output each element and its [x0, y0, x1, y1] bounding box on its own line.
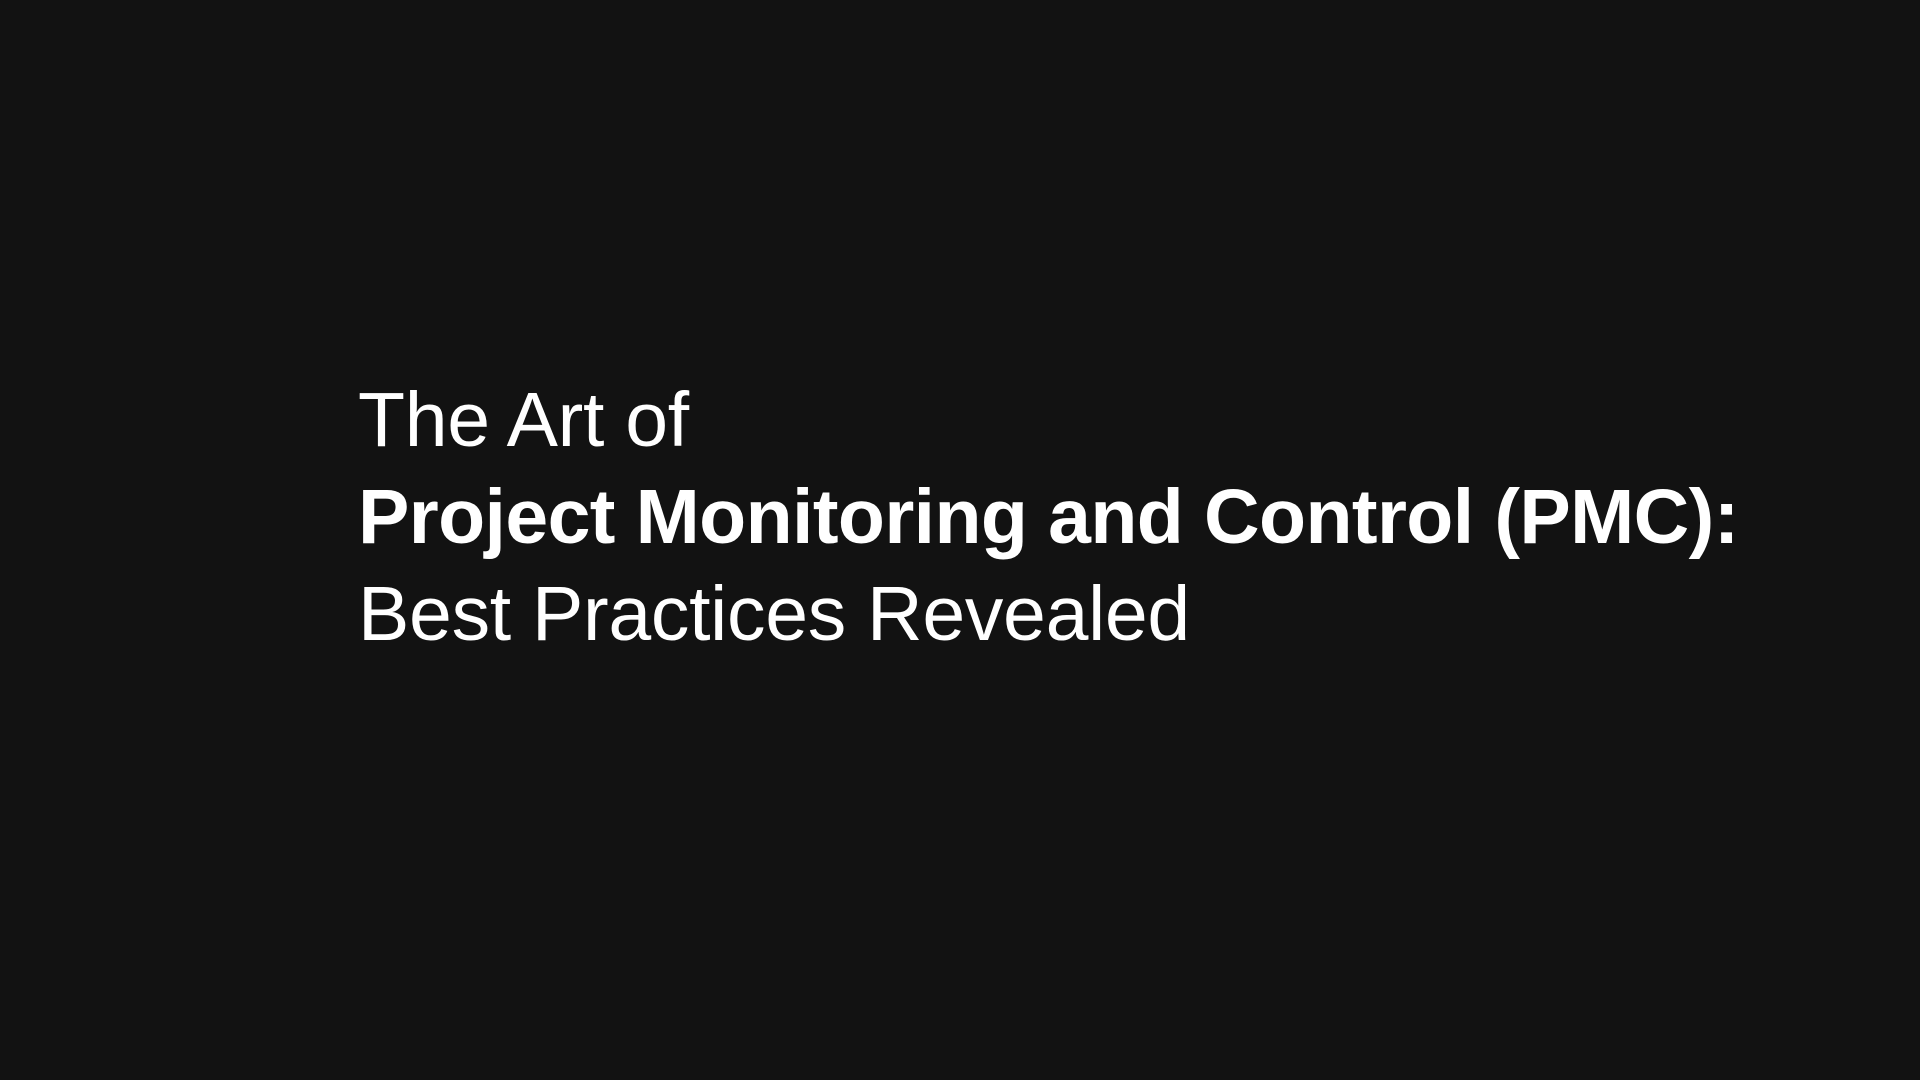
title-line-3: Best Practices Revealed [358, 566, 1190, 663]
title-slide: The Art of Project Monitoring and Contro… [0, 0, 1920, 1080]
title-block: The Art of Project Monitoring and Contro… [358, 0, 1739, 1080]
title-line-2: Project Monitoring and Control (PMC): [358, 469, 1739, 566]
title-line-1: The Art of [358, 372, 689, 469]
